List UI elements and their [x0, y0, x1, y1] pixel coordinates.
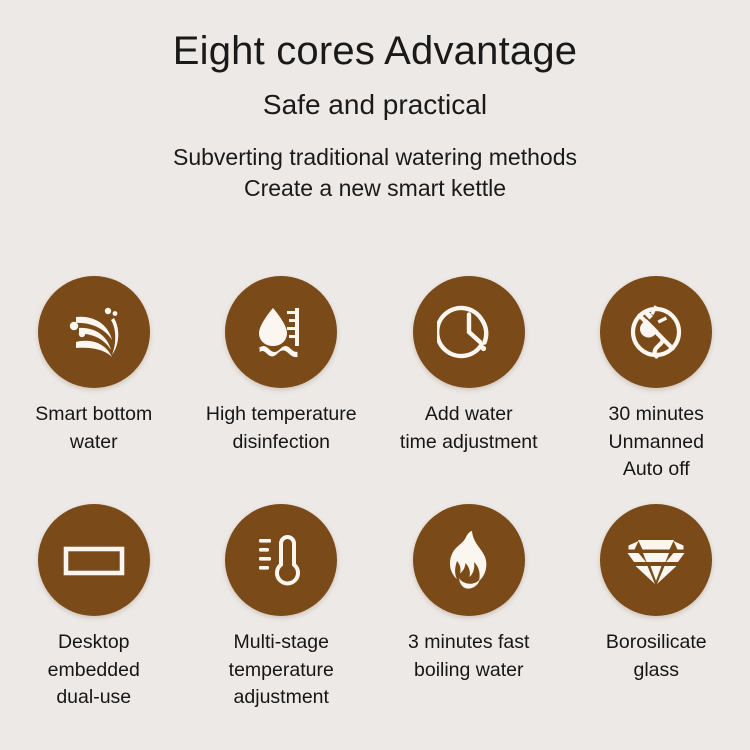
promo-page: Eight cores Advantage Safe and practical…	[0, 0, 750, 750]
rectangle-panel-icon	[62, 528, 126, 592]
feature-badge	[413, 276, 525, 388]
no-plug-icon	[624, 300, 688, 364]
feature-badge	[38, 504, 150, 616]
feature-label: Add water time adjustment	[400, 401, 538, 456]
feature-label: Smart bottom water	[35, 401, 152, 456]
feature-label: Multi-stage temperature adjustment	[229, 629, 334, 712]
feature-item-add-water-time-adjustment: Add water time adjustment	[375, 276, 563, 484]
feature-label: Desktop embedded dual-use	[48, 629, 140, 712]
feature-item-high-temperature-disinfection: High temperature disinfection	[188, 276, 376, 484]
feature-item-auto-off: 30 minutes Unmanned Auto off	[563, 276, 750, 484]
water-splash-icon	[62, 300, 126, 364]
feature-item-fast-boiling: 3 minutes fast boiling water	[375, 504, 563, 712]
feature-badge	[38, 276, 150, 388]
diamond-icon	[624, 528, 688, 592]
tagline-line-1: Subverting traditional watering methods	[0, 142, 750, 173]
feature-label: Borosilicate glass	[606, 629, 707, 684]
feature-label: High temperature disinfection	[206, 401, 357, 456]
thermometer-scale-icon	[249, 528, 313, 592]
water-drop-thermometer-icon	[249, 300, 313, 364]
feature-label: 30 minutes Unmanned Auto off	[609, 401, 704, 484]
page-title: Eight cores Advantage	[0, 28, 750, 74]
feature-item-multi-stage-temperature: Multi-stage temperature adjustment	[188, 504, 376, 712]
flame-icon	[437, 528, 501, 592]
tagline: Subverting traditional watering methods …	[0, 142, 750, 204]
feature-badge	[225, 276, 337, 388]
clock-icon	[437, 300, 501, 364]
feature-label: 3 minutes fast boiling water	[408, 629, 529, 684]
heading-block: Eight cores Advantage Safe and practical…	[0, 0, 750, 204]
feature-badge	[413, 504, 525, 616]
feature-item-smart-bottom-water: Smart bottom water	[0, 276, 188, 484]
page-subtitle: Safe and practical	[0, 88, 750, 122]
feature-badge	[600, 504, 712, 616]
feature-item-borosilicate-glass: Borosilicate glass	[563, 504, 750, 712]
feature-grid: Smart bottom water	[0, 276, 750, 712]
feature-badge	[225, 504, 337, 616]
tagline-line-2: Create a new smart kettle	[0, 173, 750, 204]
feature-item-desktop-embedded: Desktop embedded dual-use	[0, 504, 188, 712]
feature-badge	[600, 276, 712, 388]
